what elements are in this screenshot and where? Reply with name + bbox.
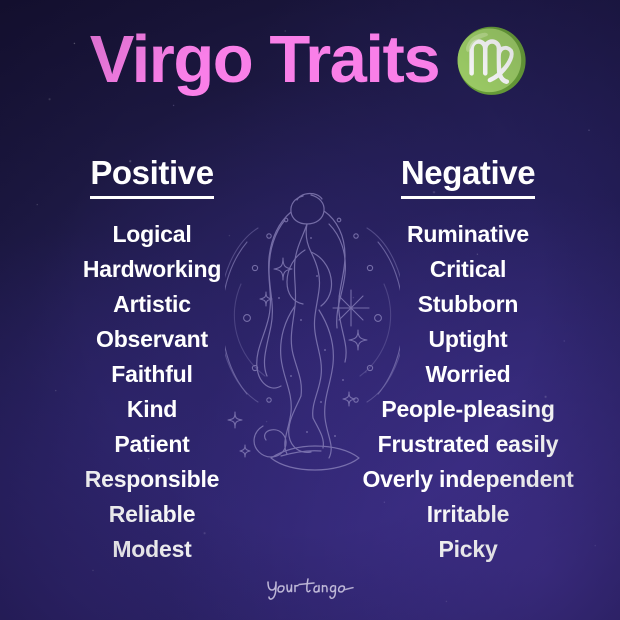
trait-item: Logical xyxy=(0,217,304,252)
traits-columns: Positive Logical Hardworking Artistic Ob… xyxy=(0,155,620,567)
page-title: Virgo Traits xyxy=(90,26,439,93)
trait-item: Hardworking xyxy=(0,252,304,287)
trait-item: Faithful xyxy=(0,357,304,392)
negative-heading: Negative xyxy=(401,155,535,199)
trait-item: People-pleasing xyxy=(316,392,620,427)
trait-item: Stubborn xyxy=(316,287,620,322)
trait-item: Modest xyxy=(0,532,304,567)
trait-item: Overly independent xyxy=(316,462,620,497)
trait-item: Critical xyxy=(316,252,620,287)
trait-item: Frustrated easily xyxy=(316,427,620,462)
positive-heading: Positive xyxy=(90,155,213,199)
trait-item: Ruminative xyxy=(316,217,620,252)
trait-item: Worried xyxy=(316,357,620,392)
positive-column: Positive Logical Hardworking Artistic Ob… xyxy=(0,155,310,567)
trait-item: Kind xyxy=(0,392,304,427)
trait-item: Artistic xyxy=(0,287,304,322)
trait-item: Responsible xyxy=(0,462,304,497)
trait-item: Reliable xyxy=(0,497,304,532)
trait-item: Observant xyxy=(0,322,304,357)
yourtango-logo-icon: YourTango xyxy=(264,575,356,601)
negative-column: Negative Ruminative Critical Stubborn Up… xyxy=(310,155,620,567)
trait-item: Uptight xyxy=(316,322,620,357)
virgo-traits-poster: Virgo Traits ♍ xyxy=(0,0,620,620)
title-row: Virgo Traits ♍ xyxy=(0,26,620,93)
virgo-zodiac-glyph-icon: ♍ xyxy=(453,31,530,93)
negative-trait-list: Ruminative Critical Stubborn Uptight Wor… xyxy=(316,217,620,567)
trait-item: Irritable xyxy=(316,497,620,532)
yourtango-watermark: YourTango xyxy=(0,575,620,606)
trait-item: Patient xyxy=(0,427,304,462)
positive-trait-list: Logical Hardworking Artistic Observant F… xyxy=(0,217,304,567)
trait-item: Picky xyxy=(316,532,620,567)
